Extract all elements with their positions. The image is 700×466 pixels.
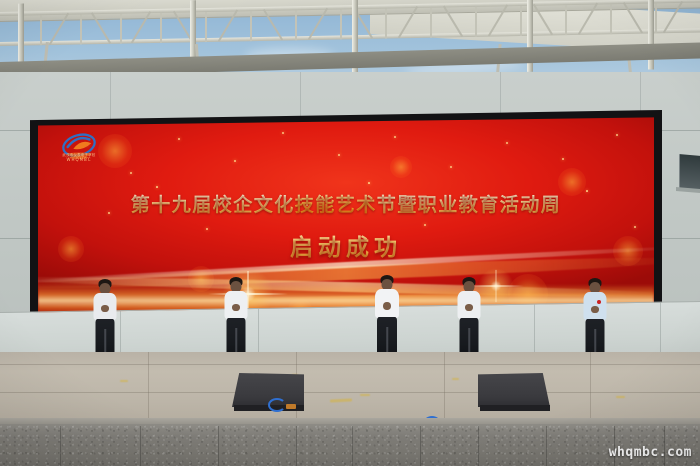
person-official-4 [452, 277, 486, 361]
monitor-plug [286, 404, 296, 409]
monitor-cable-left [268, 398, 286, 412]
headline-segment-1: 第十九届校企文化 [131, 194, 295, 216]
hands [101, 305, 109, 312]
wall-vent [679, 154, 700, 190]
headline-segment-3: 节暨职业教育活动周 [377, 194, 562, 216]
person-official-5 [578, 278, 612, 362]
person-official-2 [219, 277, 253, 361]
stage-monitor-right [478, 373, 550, 407]
lapel-badge [597, 300, 601, 304]
banner-subline: 启动成功 [38, 228, 654, 262]
watermark: whqmbc.com [609, 445, 692, 460]
headline-segment-2: 技能艺术 [295, 194, 377, 216]
granite-texture [0, 424, 700, 466]
emblem-caption-abbr: WHQMBC [60, 157, 98, 162]
person-official-1 [88, 279, 122, 361]
photograph: 武汉市仪表电子学校 WHQMBC 第十九届校企文化技能艺术节暨职业教育活动周 启… [0, 0, 700, 466]
banner-headline: 第十九届校企文化技能艺术节暨职业教育活动周 [38, 190, 654, 217]
person-official-3 [369, 275, 405, 361]
